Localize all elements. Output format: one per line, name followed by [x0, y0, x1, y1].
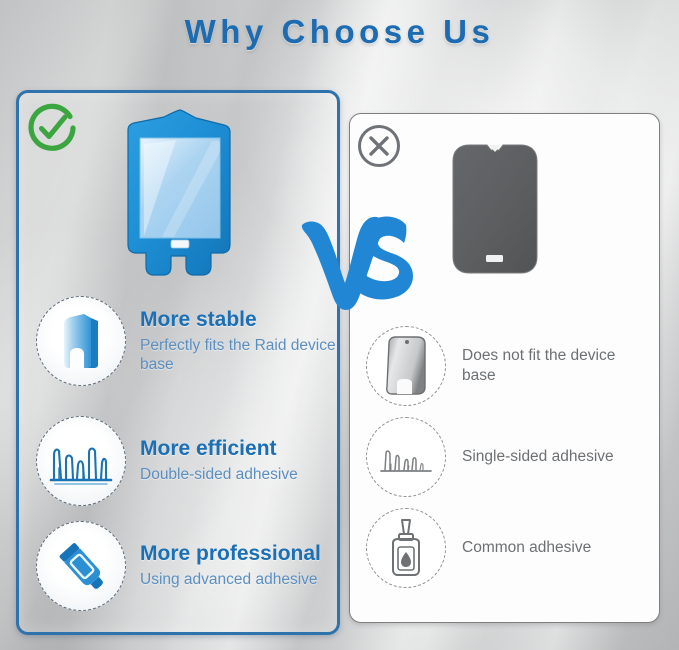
blue-glue-board-product [116, 104, 241, 284]
adhesive-strands-icon [36, 416, 126, 506]
feature-row-more-professional: More professional Using advanced adhesiv… [36, 521, 321, 611]
check-circle-icon [24, 100, 80, 161]
product-fit-icon [36, 296, 126, 386]
con-text: Single-sided adhesive [462, 447, 614, 467]
single-adhesive-strands-icon [366, 417, 446, 497]
con-text: Does not fit the device base [462, 346, 640, 386]
feature-title: More stable [140, 308, 345, 332]
glue-bottle-icon [366, 508, 446, 588]
adhesive-tube-icon [36, 521, 126, 611]
feature-title: More professional [140, 542, 321, 566]
gray-generic-board-product [449, 139, 541, 282]
feature-text: More stable Perfectly fits the Raid devi… [140, 308, 345, 375]
feature-title: More efficient [140, 437, 298, 461]
feature-text: More professional Using advanced adhesiv… [140, 542, 321, 590]
feature-text: More efficient Double-sided adhesive [140, 437, 298, 485]
feature-subtitle: Double-sided adhesive [140, 465, 298, 484]
con-text: Common adhesive [462, 538, 591, 558]
product-misfit-icon [366, 326, 446, 406]
page-title: Why Choose Us [0, 13, 679, 51]
feature-row-more-stable: More stable Perfectly fits the Raid devi… [36, 296, 345, 386]
con-row-common-adhesive: Common adhesive [366, 508, 591, 588]
feature-row-more-efficient: More efficient Double-sided adhesive [36, 416, 298, 506]
feature-subtitle: Using advanced adhesive [140, 570, 321, 589]
con-row-single-sided: Single-sided adhesive [366, 417, 614, 497]
infographic-canvas: Why Choose Us [0, 0, 679, 650]
cross-circle-icon [355, 122, 403, 175]
con-row-does-not-fit: Does not fit the device base [366, 326, 640, 406]
feature-subtitle: Perfectly fits the Raid device base [140, 336, 345, 375]
